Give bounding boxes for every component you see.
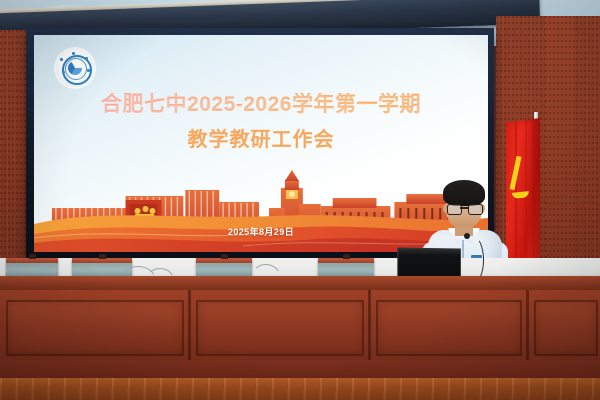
desk-panel (534, 300, 598, 356)
desk-panel (196, 300, 364, 356)
presenter-hair (443, 180, 485, 206)
skyline-illustration (34, 168, 488, 252)
slide-title: 合肥七中2025-2026学年第一学期 (34, 93, 488, 118)
desk-monitor (196, 258, 252, 278)
desk-panel (376, 300, 522, 356)
desk-monitor (318, 258, 374, 278)
led-screen: 合肥七中2025-2026学年第一学期 教学教研工作会 (34, 35, 488, 252)
eyeglasses-icon (447, 204, 462, 215)
floor (0, 378, 600, 400)
slide-subtitle: 教学教研工作会 (34, 123, 488, 152)
microphone-head (464, 233, 470, 239)
slide-artwork: 2025年8月29日 (34, 168, 488, 252)
desk-monitor (6, 258, 58, 278)
photo-scene: 合肥七中2025-2026学年第一学期 教学教研工作会 (0, 0, 600, 400)
slide-date: 2025年8月29日 (34, 225, 488, 238)
school-emblem-icon (56, 49, 94, 87)
hammer-sickle-emblem (510, 156, 522, 190)
desk-panel (6, 300, 184, 356)
